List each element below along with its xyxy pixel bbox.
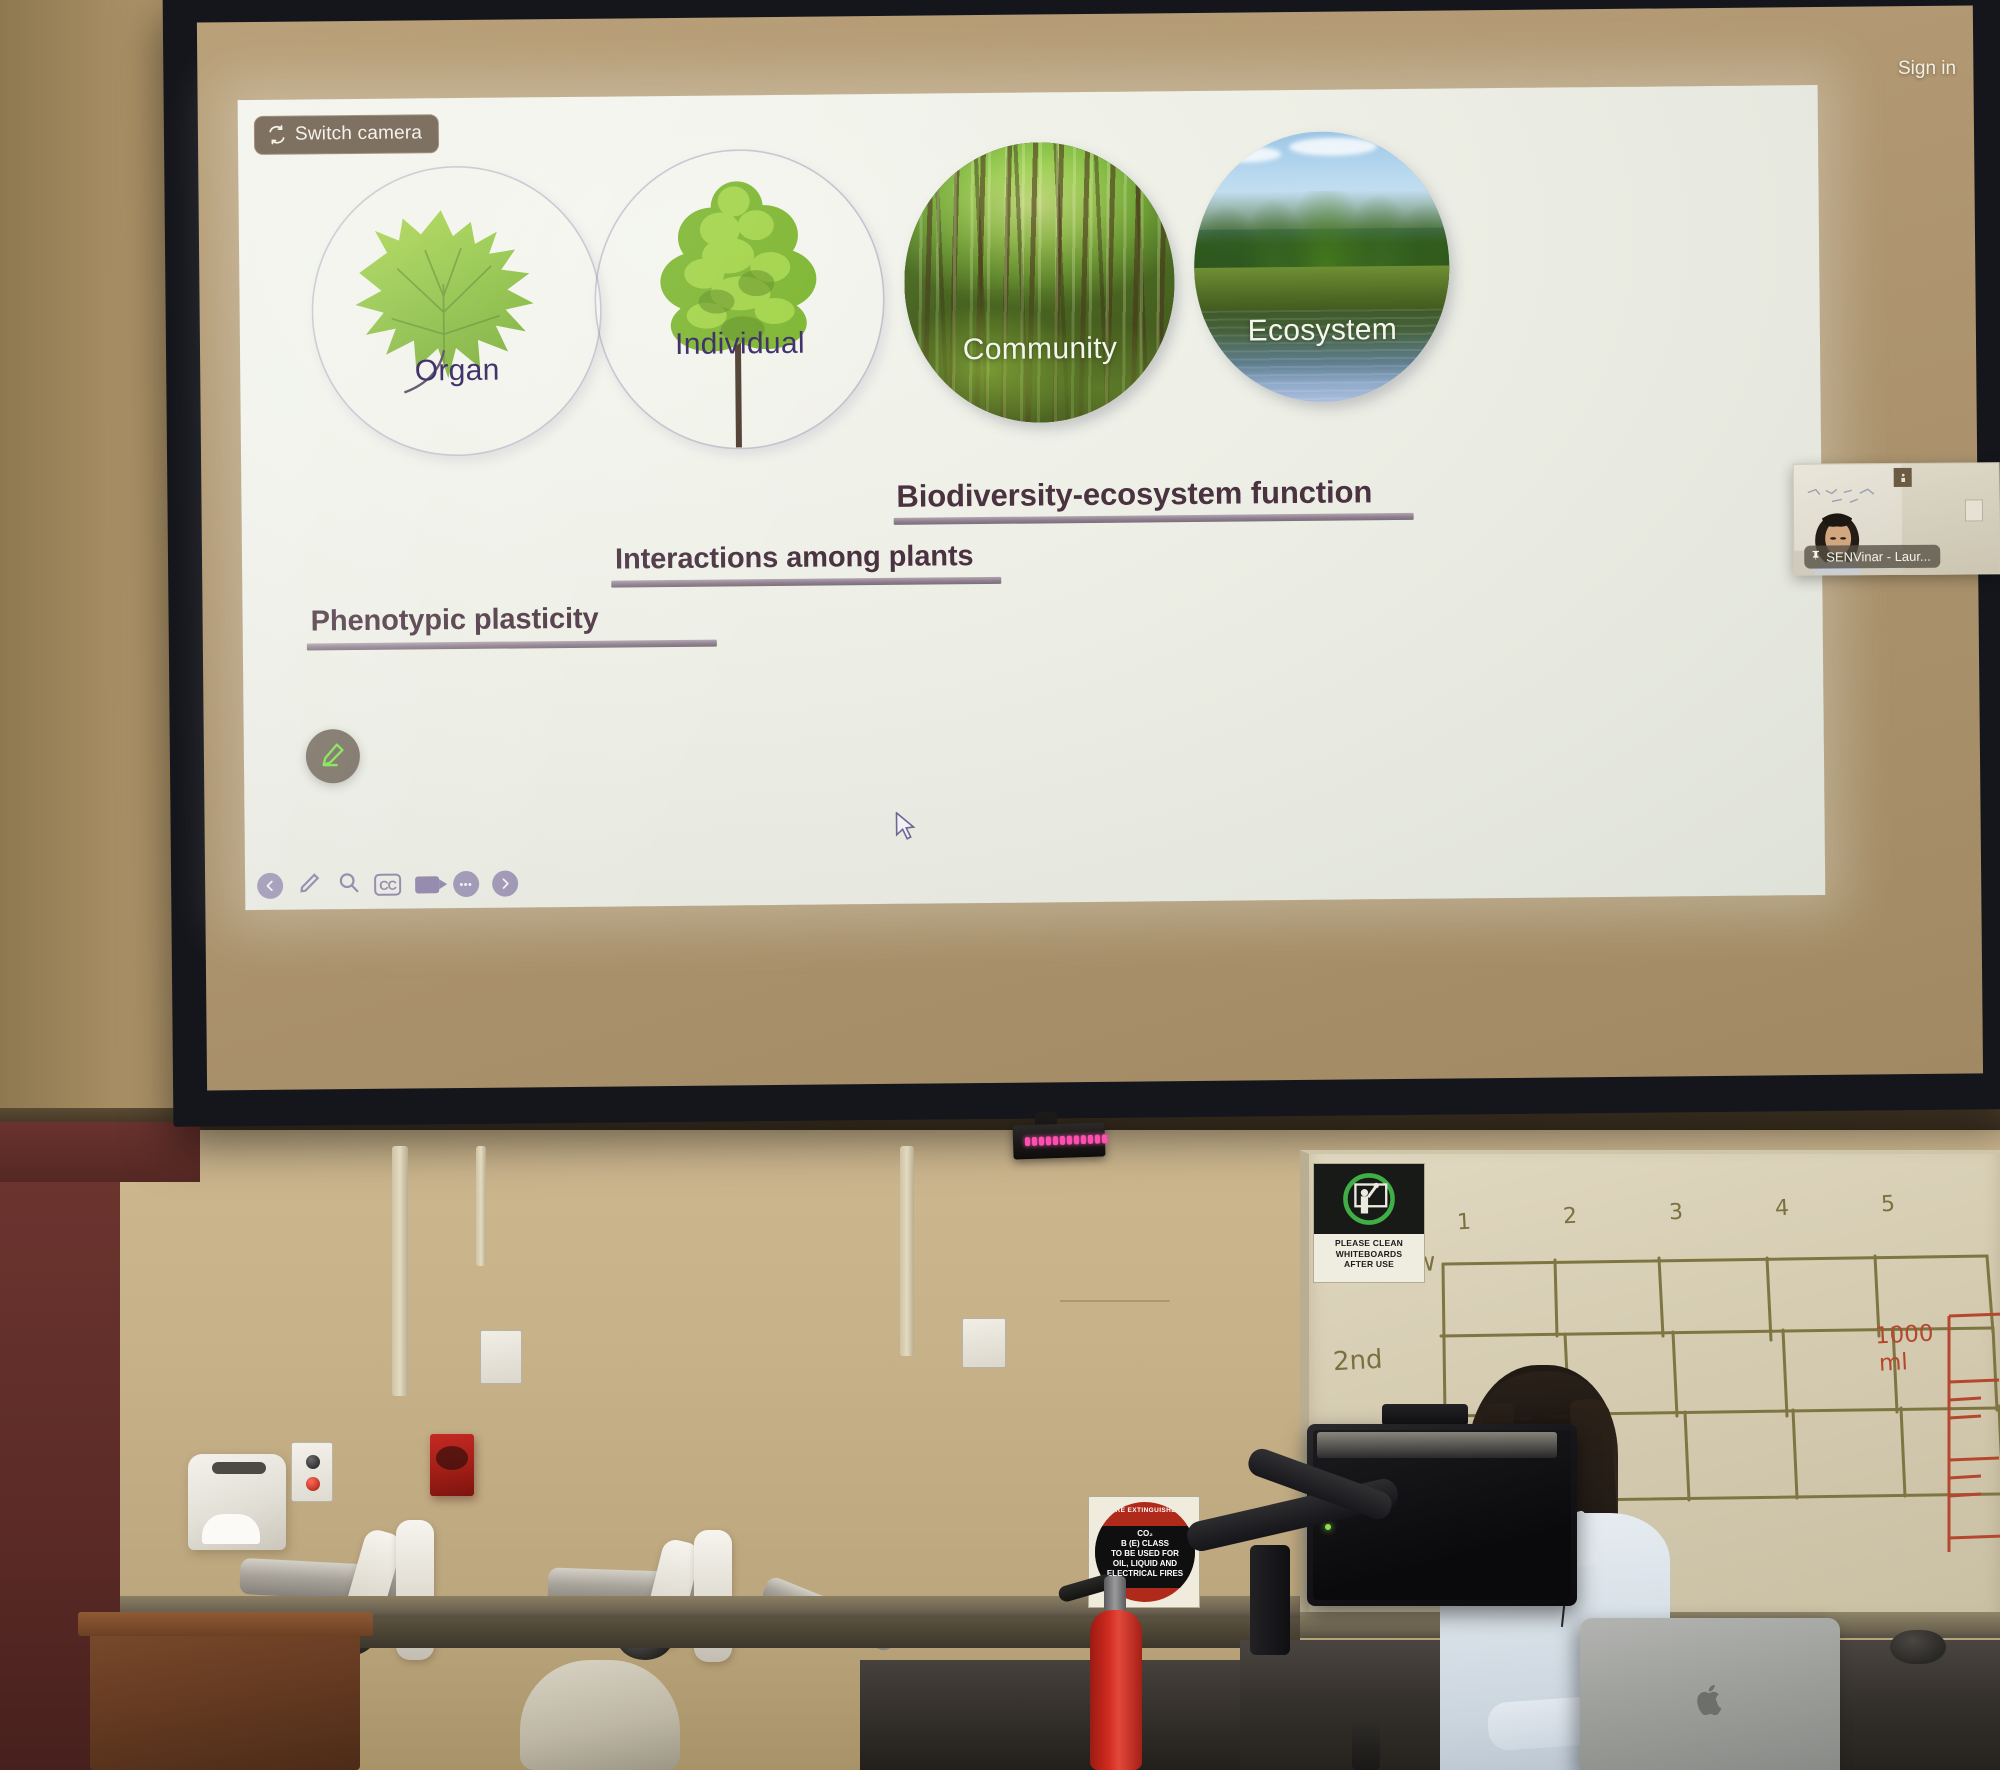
extinguisher-line-3: TO BE USED FOR — [1095, 1549, 1195, 1559]
viewer-toolbar: CC — [257, 870, 518, 899]
computer-mouse[interactable] — [1890, 1630, 1946, 1664]
led — [1025, 1137, 1030, 1146]
switch-camera-label: Switch camera — [295, 122, 422, 145]
presenter-brow-right — [1550, 1415, 1568, 1418]
lectern-top — [78, 1612, 373, 1636]
clean-whiteboard-pictogram — [1314, 1164, 1424, 1234]
participant-name-label: SENVinar - Laur... — [1826, 548, 1931, 564]
switch-button-off[interactable] — [306, 1455, 320, 1469]
slide-circle-label: Community — [905, 331, 1175, 368]
led — [1046, 1136, 1051, 1145]
thumb-wall-fixture — [1965, 499, 1983, 521]
projection-screen-surface: Switch camera — [197, 5, 1983, 1090]
slide-term-underline — [307, 640, 717, 651]
led — [1081, 1135, 1086, 1144]
slide-circle-community: Community — [903, 141, 1176, 424]
participant-video-thumbnail[interactable]: SENVinar - Laur... — [1793, 462, 2000, 575]
dispenser-slot — [212, 1462, 266, 1474]
captions-button[interactable]: CC — [374, 874, 401, 896]
sign-line-2: WHITEBOARDS — [1316, 1249, 1422, 1260]
led — [1060, 1136, 1065, 1145]
monitor-power-led — [1325, 1524, 1331, 1530]
sign-line-1: PLEASE CLEAN — [1316, 1238, 1422, 1249]
whiteboard-column-number: 1 — [1456, 1210, 1471, 1236]
monitor-arm-post — [1250, 1545, 1290, 1655]
led — [1088, 1135, 1093, 1144]
wall-junction-box — [962, 1318, 1006, 1368]
slide-term-biodiversity: Biodiversity-ecosystem function — [896, 474, 1372, 515]
led — [1053, 1136, 1058, 1145]
apple-logo-icon — [1697, 1683, 1725, 1715]
pencil-edit-icon — [319, 740, 347, 773]
led-row — [1025, 1134, 1107, 1146]
lake-and-forest-photo — [1193, 131, 1451, 403]
whiteboard-column-number: 3 — [1668, 1200, 1683, 1226]
presenter-brow-left — [1515, 1417, 1533, 1420]
led — [1074, 1135, 1079, 1144]
projection-screen-frame: Switch camera — [163, 0, 2000, 1127]
led — [1102, 1134, 1107, 1143]
whiteboard-column-number: 5 — [1880, 1192, 1895, 1218]
video-button[interactable] — [414, 871, 440, 897]
led — [1032, 1137, 1037, 1146]
slide-term-underline — [894, 513, 1414, 525]
wall-conduit — [476, 1146, 486, 1266]
projected-slide-area: Switch camera — [238, 85, 1826, 910]
led — [1039, 1137, 1044, 1146]
slide-circle-ecosystem: Ecosystem — [1193, 131, 1451, 403]
extinguisher-line-1: CO₂ — [1095, 1529, 1195, 1539]
zoom-button[interactable] — [335, 872, 361, 898]
whiteboard-row2-label: 2nd — [1332, 1345, 1383, 1378]
light-switch-plate[interactable] — [291, 1442, 333, 1502]
extinguisher-line-2: B (E) CLASS — [1095, 1539, 1195, 1549]
clean-whiteboard-sign-text: PLEASE CLEAN WHITEBOARDS AFTER USE — [1314, 1234, 1424, 1274]
magnifier-icon — [337, 871, 360, 899]
wall-conduit — [392, 1146, 408, 1396]
maroon-wall-panel-top — [0, 1122, 200, 1182]
lectern — [90, 1625, 360, 1770]
led — [1067, 1136, 1072, 1145]
thumb-wall-sign-icon — [1894, 468, 1912, 487]
fire-extinguisher — [1090, 1610, 1142, 1770]
chair — [520, 1660, 680, 1770]
fire-alarm-pull-station[interactable] — [430, 1434, 474, 1496]
extinguisher-sign-title: FIRE EXTINGUISHER — [1095, 1507, 1195, 1514]
camera-led-bar-icon — [1012, 1122, 1105, 1159]
presentation-remote[interactable] — [1352, 1722, 1380, 1770]
pencil-icon — [298, 871, 321, 899]
single-tree-illustration — [623, 162, 856, 450]
clean-whiteboard-sign: PLEASE CLEAN WHITEBOARDS AFTER USE — [1313, 1163, 1425, 1283]
slide-term-interactions: Interactions among plants — [615, 540, 974, 576]
whiteboard-red-note-unit: ml — [1878, 1349, 1908, 1376]
annotate-button[interactable] — [296, 872, 322, 898]
pin-icon — [1810, 549, 1821, 565]
slide-circle-label: Individual — [595, 326, 885, 363]
sign-line-3: AFTER USE — [1316, 1259, 1422, 1270]
usb-webcam — [1382, 1404, 1468, 1426]
paper-towel-dispenser[interactable] — [188, 1454, 286, 1550]
whiteboard-column-number: 2 — [1562, 1204, 1577, 1230]
participant-name-badge: SENVinar - Laur... — [1804, 545, 1940, 569]
slide-circle-label: Ecosystem — [1195, 313, 1450, 349]
wall-junction-box — [480, 1330, 522, 1384]
monitor-glare — [1317, 1432, 1557, 1458]
forest-photo — [903, 141, 1176, 424]
bench-surface-left — [860, 1660, 1280, 1770]
sign-in-button[interactable]: Sign in — [1898, 58, 1956, 80]
slide-circle-individual: Individual — [593, 148, 886, 451]
wall-pencil-mark — [1060, 1300, 1170, 1302]
refresh-arrows-icon — [267, 125, 287, 145]
led — [1095, 1135, 1100, 1144]
whiteboard-red-note-volume: 1000 — [1874, 1320, 1934, 1349]
whiteboard-cylinder-sketch — [1941, 1310, 2000, 1560]
slide-circle-label: Organ — [312, 353, 602, 390]
annotation-toggle-button[interactable] — [306, 729, 361, 784]
more-options-button[interactable] — [453, 871, 479, 897]
extinguisher-line-4: OIL, LIQUID AND — [1095, 1559, 1195, 1569]
wall-conduit — [900, 1146, 914, 1356]
thumb-whiteboard-writing — [1806, 486, 1890, 507]
switch-button-on[interactable] — [306, 1477, 320, 1491]
slide-term-plasticity: Phenotypic plasticity — [310, 603, 598, 639]
mouse-pointer-icon — [894, 812, 916, 847]
slide-term-underline — [611, 577, 1001, 588]
slide-circle-organ: Organ — [310, 165, 603, 458]
previous-slide-button[interactable] — [257, 873, 283, 899]
switch-camera-button[interactable]: Switch camera — [254, 114, 440, 155]
video-camera-icon — [415, 876, 439, 893]
whiteboard-column-number: 4 — [1774, 1196, 1789, 1222]
next-slide-button[interactable] — [492, 870, 518, 896]
